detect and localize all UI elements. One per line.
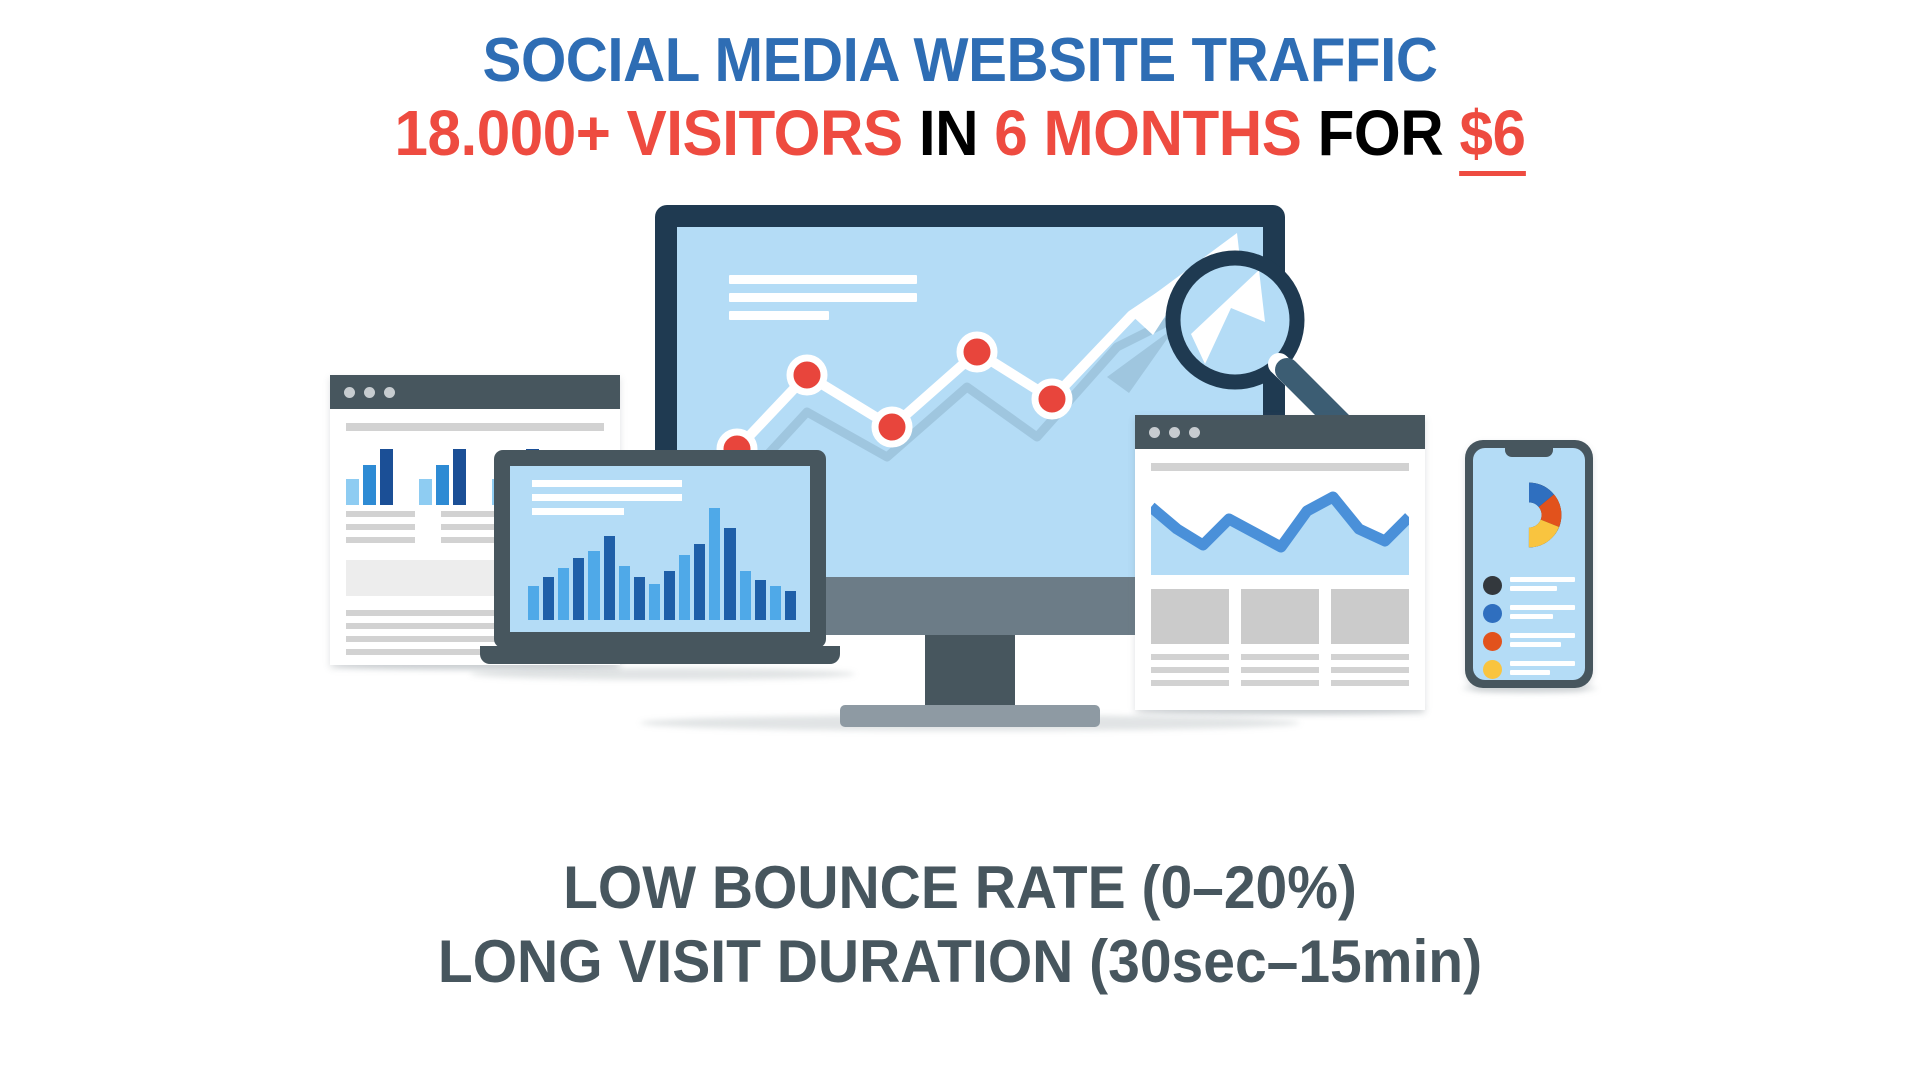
bar [679, 555, 690, 620]
thumbnail [1151, 589, 1229, 644]
monitor-neck [925, 635, 1015, 713]
chart-point [1035, 382, 1069, 416]
window-dot [384, 387, 395, 398]
text-line [1331, 654, 1409, 660]
legend-row [1483, 632, 1575, 651]
right-window-body [1135, 449, 1425, 707]
legend-dot-yellow [1483, 660, 1502, 679]
caption-column [1331, 654, 1409, 693]
text-line [346, 511, 415, 517]
window-dot [364, 387, 375, 398]
text-line [346, 524, 415, 530]
right-window-thumbnails [1151, 589, 1409, 644]
laptop-device [480, 450, 840, 680]
bar [724, 528, 735, 620]
window-control-dots [1135, 415, 1425, 449]
legend-text [1510, 605, 1575, 623]
legend-text [1510, 633, 1575, 651]
thumbnail [1241, 589, 1319, 644]
thumbnail [1331, 589, 1409, 644]
laptop-base [480, 646, 840, 664]
window-dot [1149, 427, 1160, 438]
bar-group [419, 449, 466, 505]
headline-line-1: SOCIAL MEDIA WEBSITE TRAFFIC [58, 28, 1863, 94]
bar [588, 551, 599, 620]
bar [558, 568, 569, 620]
bar [709, 508, 720, 620]
text-line [346, 537, 415, 543]
bar [528, 586, 539, 620]
legend-row [1483, 604, 1575, 623]
text-line [1151, 654, 1229, 660]
bar [604, 536, 615, 620]
bar [619, 566, 630, 620]
window-dot [344, 387, 355, 398]
bar [770, 586, 781, 620]
bar [649, 584, 660, 620]
window-dot [1189, 427, 1200, 438]
bar [543, 577, 554, 620]
laptop-bar-chart [528, 508, 796, 620]
headline-visitors: 18.000+ VISITORS [395, 97, 903, 169]
window-dot [1169, 427, 1180, 438]
headline-months: 6 MONTHS [994, 97, 1301, 169]
legend-dot-dark [1483, 576, 1502, 595]
poster-canvas: SOCIAL MEDIA WEBSITE TRAFFIC 18.000+ VIS… [0, 0, 1920, 1080]
window-control-dots [330, 375, 620, 409]
right-browser-window [1135, 415, 1425, 710]
bar [363, 465, 376, 505]
text-line [1241, 654, 1319, 660]
legend-dot-orange [1483, 632, 1502, 651]
caption-block: LOW BOUNCE RATE (0–20%) LONG VISIT DURAT… [0, 855, 1920, 995]
laptop-screen [510, 466, 810, 632]
caption-line-1: LOW BOUNCE RATE (0–20%) [48, 855, 1872, 921]
laptop-header-line-1 [532, 480, 682, 487]
bar [664, 571, 675, 620]
phone-screen [1473, 448, 1585, 680]
text-line [1241, 680, 1319, 686]
text-line [1151, 680, 1229, 686]
chart-point [875, 410, 909, 444]
device-illustration [0, 200, 1920, 860]
legend-text [1510, 577, 1575, 595]
bar-group [346, 449, 393, 505]
bar [453, 449, 466, 505]
monitor-base [840, 705, 1100, 727]
bar [380, 449, 393, 505]
bar [634, 577, 645, 620]
bar [755, 580, 766, 620]
headline-line-2: 18.000+ VISITORS IN 6 MONTHS FOR $6 [58, 100, 1863, 168]
text-line [1151, 667, 1229, 673]
caption-column [1151, 654, 1229, 693]
headline-price: $6 [1459, 97, 1525, 176]
right-window-caption-rows [1151, 654, 1409, 693]
caption-column [1241, 654, 1319, 693]
phone-donut-chart [1484, 470, 1574, 560]
headline-for: FOR [1318, 97, 1444, 169]
area-line [1151, 497, 1409, 547]
headline-in: IN [919, 97, 978, 169]
right-window-title-line [1151, 463, 1409, 471]
chart-point [960, 335, 994, 369]
bar [436, 465, 449, 505]
right-window-area-chart [1151, 489, 1409, 575]
legend-dot-blue [1483, 604, 1502, 623]
text-line [1331, 680, 1409, 686]
bar [419, 479, 432, 505]
phone-notch [1505, 448, 1553, 457]
headline-block: SOCIAL MEDIA WEBSITE TRAFFIC 18.000+ VIS… [0, 28, 1920, 168]
bar [573, 558, 584, 620]
legend-row [1483, 576, 1575, 595]
left-window-title-line [346, 423, 604, 431]
caption-column [346, 511, 415, 550]
bar [346, 479, 359, 505]
legend-row [1483, 660, 1575, 679]
chart-point [790, 358, 824, 392]
bar [740, 571, 751, 620]
smartphone-device [1465, 440, 1593, 688]
phone-legend [1483, 576, 1575, 680]
laptop-header-line-2 [532, 494, 682, 501]
caption-line-2: LONG VISIT DURATION (30sec–15min) [48, 929, 1872, 995]
legend-text [1510, 661, 1575, 679]
text-line [1241, 667, 1319, 673]
text-line [1331, 667, 1409, 673]
bar [785, 591, 796, 620]
bar [694, 544, 705, 620]
